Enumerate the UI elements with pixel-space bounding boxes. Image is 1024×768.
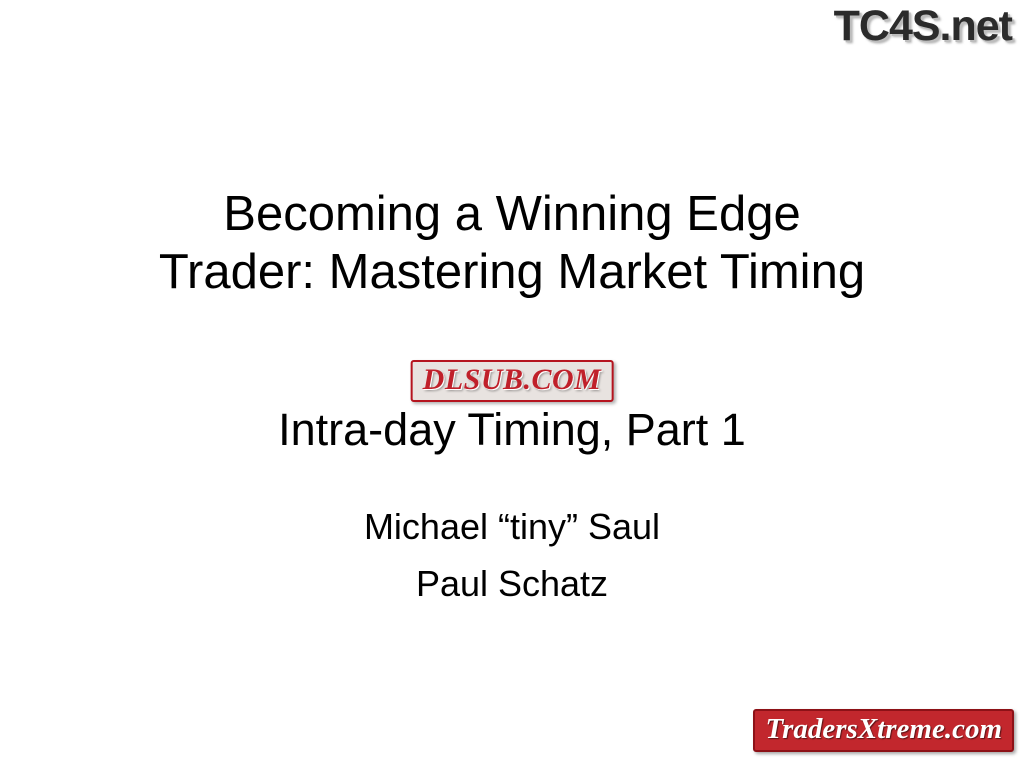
page-subtitle: Intra-day Timing, Part 1 xyxy=(0,404,1024,456)
tradersxtreme-watermark: TradersXtreme.com xyxy=(753,709,1014,752)
page-title-line-2: Trader: Mastering Market Timing xyxy=(0,243,1024,301)
presentation-slide: TC4S.net Becoming a Winning Edge Trader:… xyxy=(0,0,1024,768)
page-title: Becoming a Winning Edge Trader: Masterin… xyxy=(0,185,1024,301)
presenter-list: Michael “tiny” Saul Paul Schatz xyxy=(0,498,1024,612)
presenter-name-2: Paul Schatz xyxy=(0,555,1024,612)
page-title-line-1: Becoming a Winning Edge xyxy=(0,185,1024,243)
presenter-name-1: Michael “tiny” Saul xyxy=(0,498,1024,555)
tc4s-watermark: TC4S.net xyxy=(834,2,1012,51)
dlsub-watermark: DLSUB.COM xyxy=(411,360,614,402)
